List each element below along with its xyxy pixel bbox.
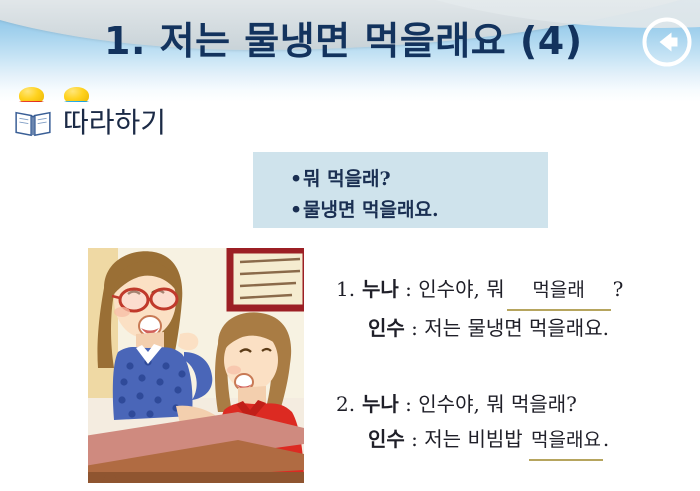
phrase-box: •뭐 먹을래? •물냉면 먹을래요. [253,152,548,228]
exercise-line-question: 2.누나 : 인수야, 뭐 먹을래? [336,387,694,422]
exercise-item-number: 1. [336,272,362,307]
exercise-question-text: 인수야, 뭐 [418,277,504,301]
two-people-icon [8,11,108,87]
phrase-line: •뭐 먹을래? [290,164,391,191]
exercise-item-number: 2. [336,387,362,422]
person-red-head [19,87,44,102]
phrase-line-text: 뭐 먹을래? [303,168,391,190]
exercise-colon: : [411,427,418,451]
section-heading-label: 따라하기 [63,106,166,140]
person-blue-head [64,87,89,102]
exercise-line-answer: 인수 : 저는 비빔밥 먹을래요. [336,422,694,461]
exercise-speaker: 누나 [362,392,399,416]
menu-sign [230,250,304,308]
exercise-line-answer: 인수 : 저는 물냉면 먹을래요. [336,311,694,346]
slide-root: 1. 저는 물냉면 먹을래요 (4) 따라하기 •뭐 먹을래? •물냉면 먹을래 [0,0,700,491]
exercise-colon: : [405,392,412,416]
bullet-icon: • [290,199,303,221]
exercise-speaker: 누나 [362,277,399,301]
lesson-illustration [88,248,304,483]
exercise-answer-blank[interactable]: 먹을래 [507,273,611,311]
illustration-artwork [88,248,304,483]
back-arrow-button[interactable] [641,16,693,68]
exercise-list: 1.누나 : 인수야, 뭐먹을래? 인수 : 저는 물냉면 먹을래요. 2.누나… [336,272,694,461]
exercise-period: . [603,427,609,451]
phrase-line: •물냉면 먹을래요. [290,195,439,222]
exercise-item: 2.누나 : 인수야, 뭐 먹을래? 인수 : 저는 비빔밥 먹을래요. [336,387,694,461]
section-heading: 따라하기 [14,106,166,140]
exercise-question-mark: ? [613,277,624,301]
bullet-icon: • [290,168,303,190]
person-red-body [10,101,53,102]
person-blue-body [55,101,98,102]
exercise-answer-text: 저는 물냉면 먹을래요. [424,316,609,340]
exercise-speaker: 인수 [368,427,405,451]
exercise-question-text: 인수야, 뭐 먹을래? [418,392,577,416]
exercise-answer-prefix: 저는 비빔밥 [424,427,522,451]
page-title: 1. 저는 물냉면 먹을래요 (4) [104,13,583,69]
exercise-speaker: 인수 [368,316,405,340]
open-book-icon [14,108,52,138]
exercise-answer-blank[interactable]: 먹을래요 [529,423,603,461]
exercise-colon: : [405,277,412,301]
phrase-line-text: 물냉면 먹을래요. [303,199,439,221]
slide-header: 1. 저는 물냉면 먹을래요 (4) [0,0,700,102]
exercise-colon: : [411,316,418,340]
back-arrow-icon [641,16,693,68]
exercise-item: 1.누나 : 인수야, 뭐먹을래? 인수 : 저는 물냉면 먹을래요. [336,272,694,346]
exercise-line-question: 1.누나 : 인수야, 뭐먹을래? [336,272,694,311]
